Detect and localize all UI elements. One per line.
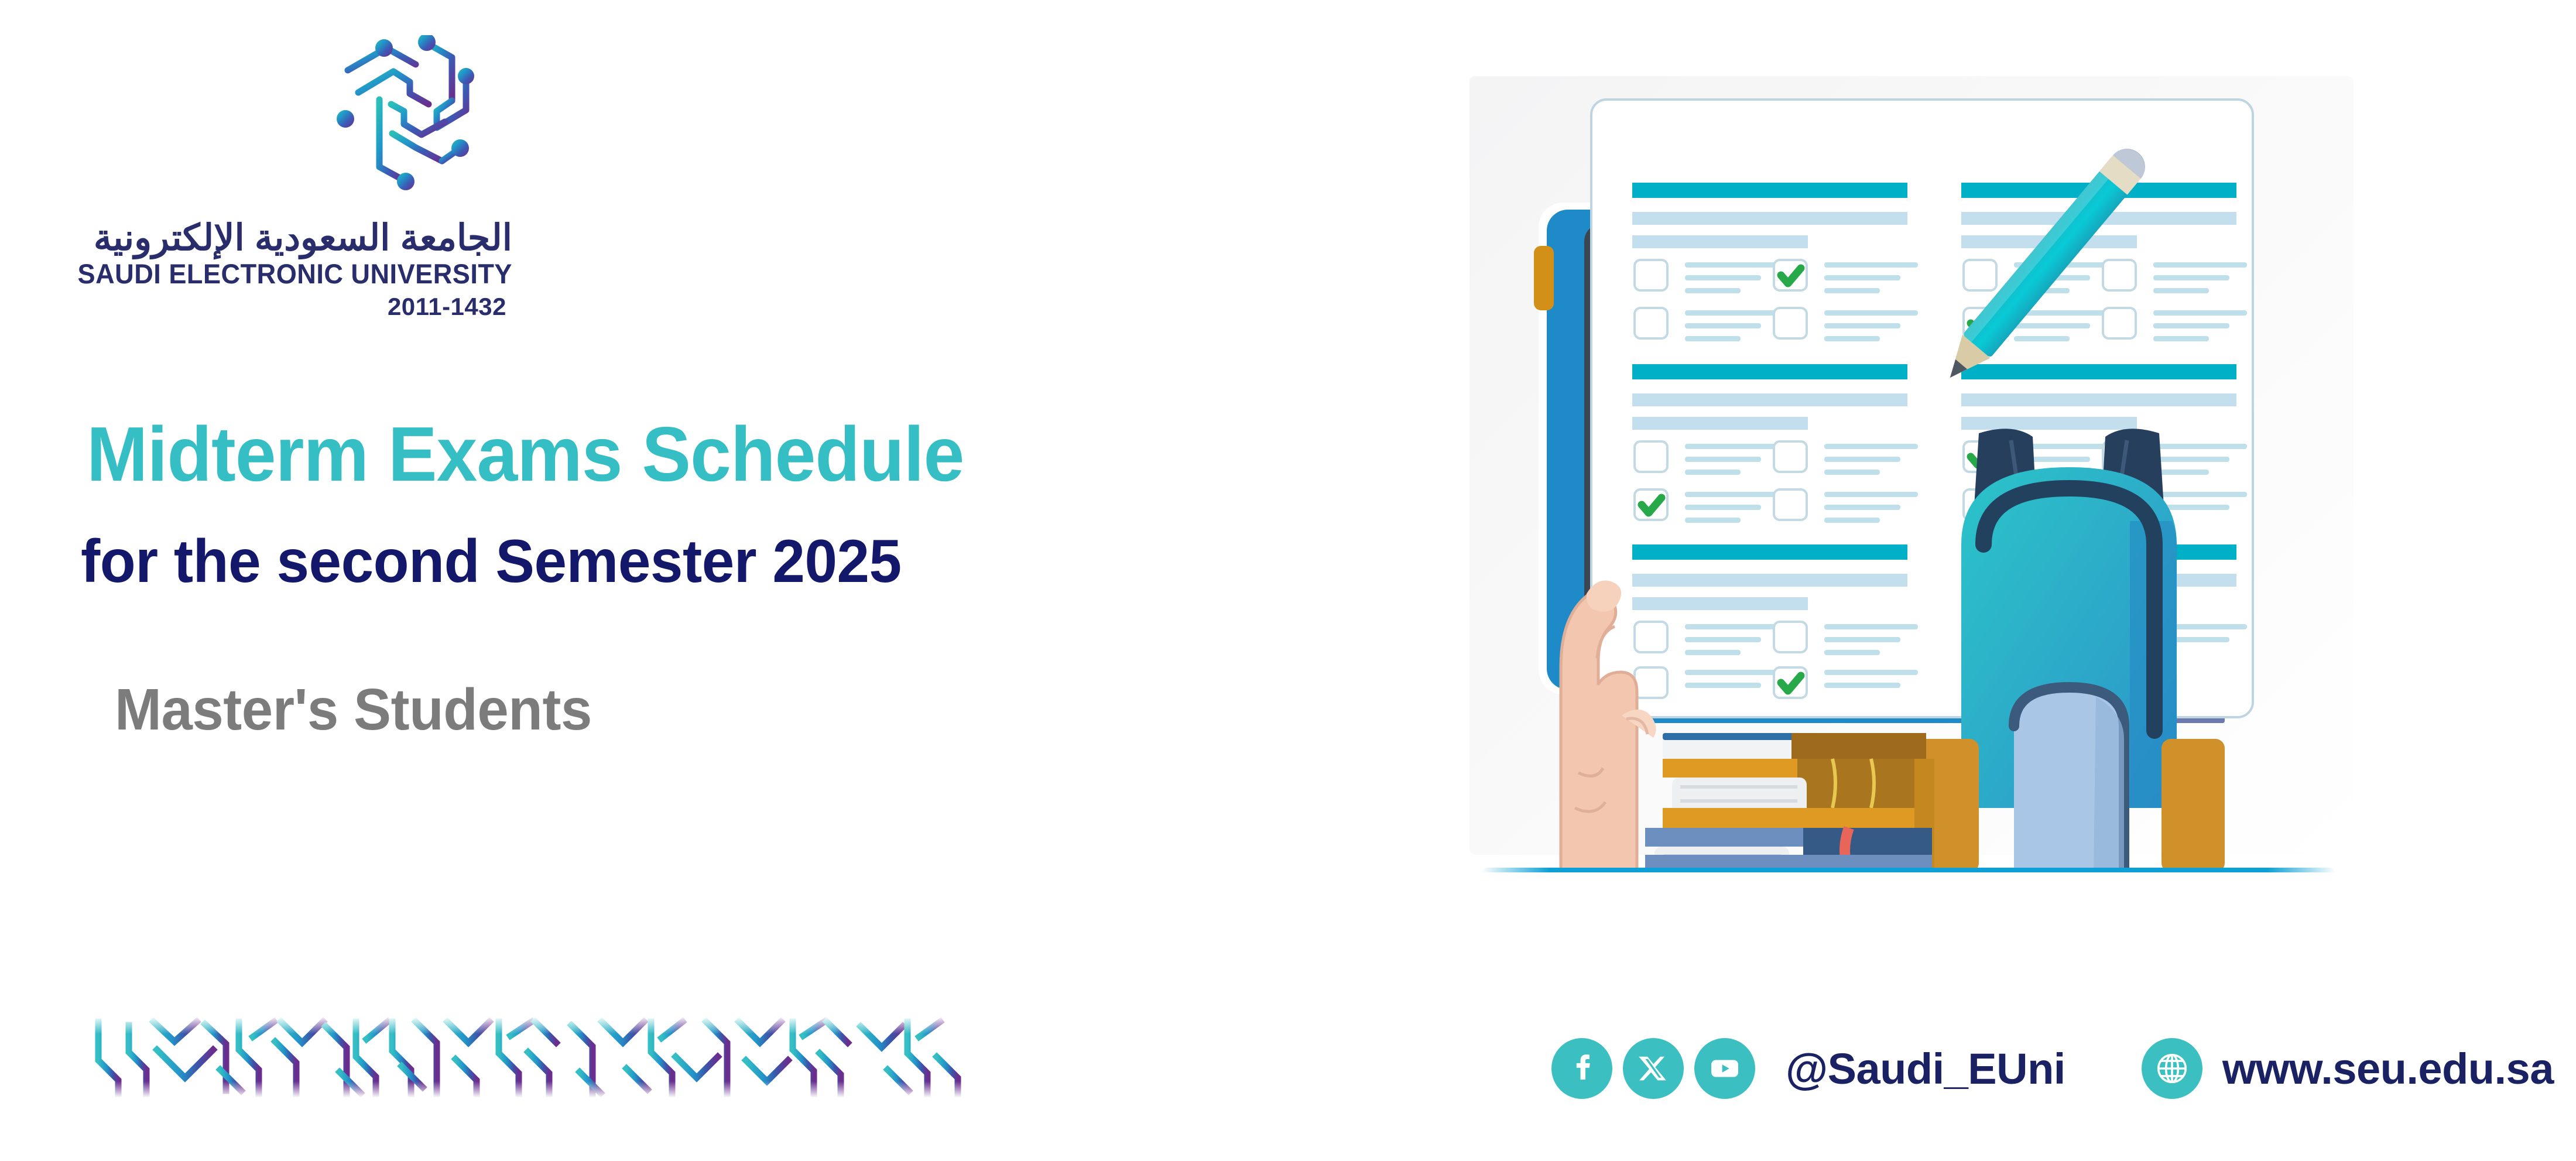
youtube-icon[interactable] [1694, 1038, 1755, 1099]
university-logo: الجامعة السعودية الإلكترونية SAUDI ELECT… [56, 35, 512, 321]
youtube-glyph [1708, 1052, 1742, 1085]
facebook-icon[interactable] [1551, 1038, 1612, 1099]
audience-label: Master's Students [115, 676, 592, 744]
facebook-glyph [1565, 1052, 1599, 1085]
page-subtitle: for the second Semester 2025 [81, 527, 902, 597]
seu-network-hexagon-logo-icon [322, 35, 474, 211]
poster-canvas: الجامعة السعودية الإلكترونية SAUDI ELECT… [0, 0, 2576, 1161]
logo-founding-years: 2011-1432 [56, 293, 512, 321]
illustration-art [1446, 76, 2395, 872]
website-url[interactable]: www.seu.edu.sa [2222, 1044, 2554, 1094]
circuit-zigzag-pattern-icon [88, 1016, 1007, 1098]
page-title: Midterm Exams Schedule [87, 410, 964, 498]
website-group[interactable]: www.seu.edu.sa [2142, 1038, 2554, 1099]
student-checklist-tablet-illustration [1446, 76, 2395, 872]
social-handle[interactable]: @Saudi_EUni [1786, 1044, 2065, 1094]
x-twitter-icon[interactable] [1623, 1038, 1684, 1099]
logo-name-arabic: الجامعة السعودية الإلكترونية [56, 219, 512, 257]
footer-contact-bar: @Saudi_EUni www.seu.edu.sa [1551, 1030, 2554, 1107]
logo-name-english: SAUDI ELECTRONIC UNIVERSITY [74, 259, 512, 289]
globe-icon[interactable] [2142, 1038, 2202, 1099]
x-twitter-glyph [1638, 1053, 1669, 1084]
globe-glyph [2154, 1050, 2190, 1087]
